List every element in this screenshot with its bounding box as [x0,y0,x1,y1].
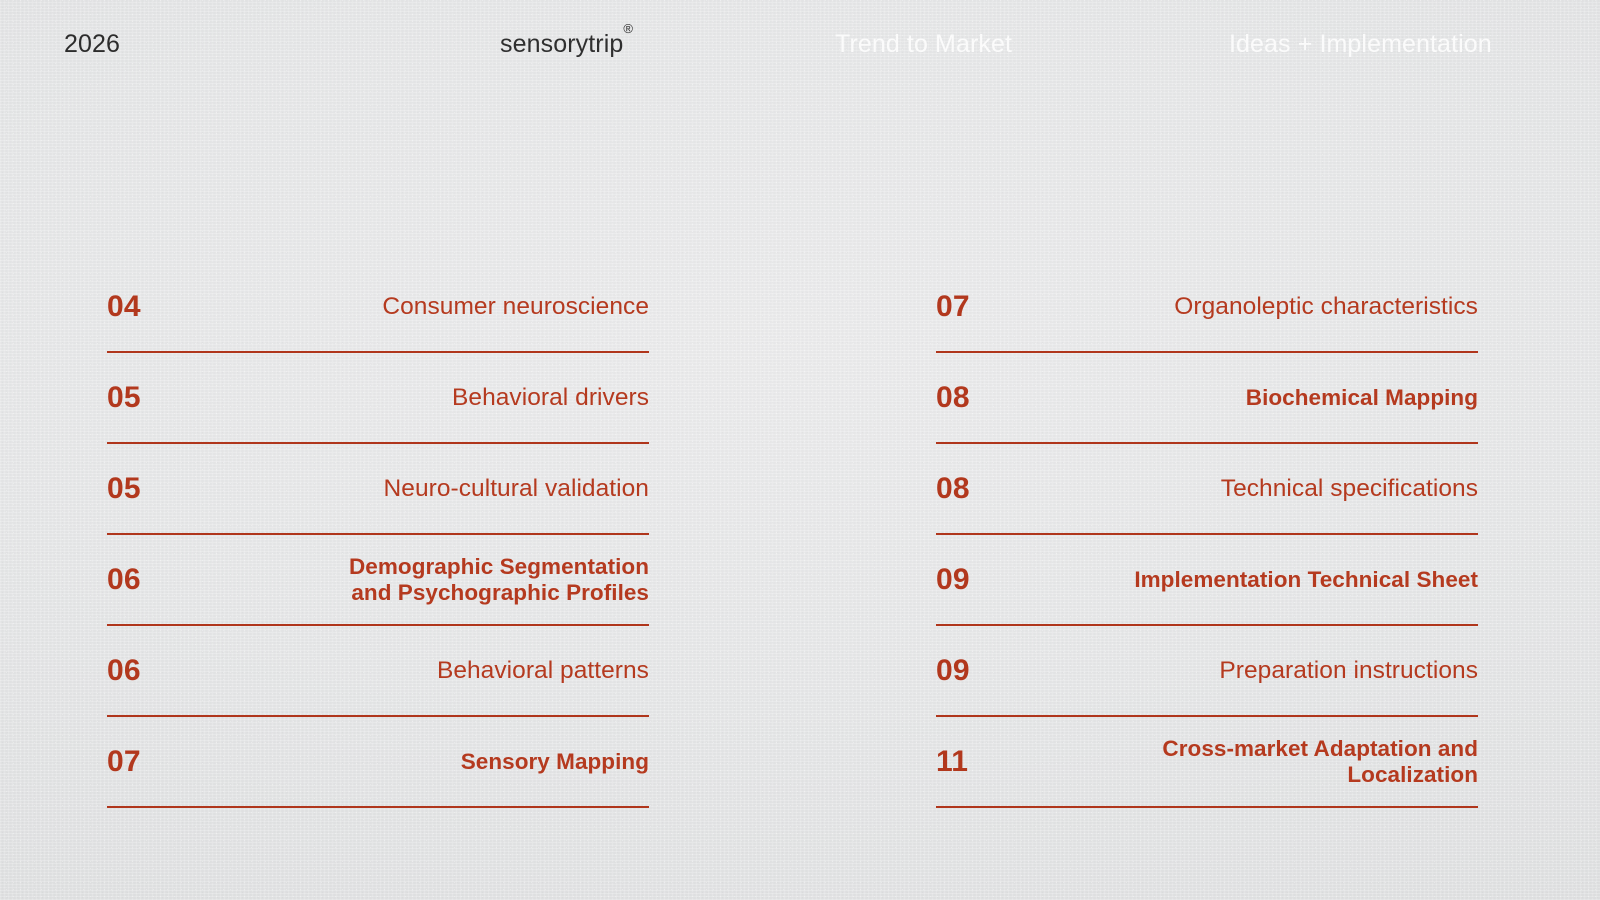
toc-row-number: 06 [107,565,217,595]
toc-row[interactable]: 11Cross-market Adaptation and Localizati… [936,717,1478,808]
toc-row-label[interactable]: Consumer neuroscience [217,293,649,320]
header-nav-item-ideas-implementation[interactable]: Ideas + Implementation [1229,30,1492,59]
toc-row[interactable]: 05Behavioral drivers [107,353,649,444]
toc-row-number: 07 [107,747,217,777]
toc-row-label[interactable]: Organoleptic characteristics [1046,293,1478,320]
toc-row-number: 05 [107,474,217,504]
toc-row-number: 09 [936,565,1046,595]
toc-row[interactable]: 09Preparation instructions [936,626,1478,717]
registered-trademark-icon: ® [623,21,633,36]
toc-row[interactable]: 05Neuro-cultural validation [107,444,649,535]
brand-name: sensorytrip [500,30,623,58]
toc-row-number: 05 [107,383,217,413]
toc-row-label[interactable]: Biochemical Mapping [1046,385,1478,410]
page-header: 2026 sensorytrip® Trend to Market Ideas … [0,0,1600,88]
toc-row-number: 06 [107,656,217,686]
header-nav-item-trend-to-market[interactable]: Trend to Market [835,30,1012,59]
header-year: 2026 [64,30,120,59]
toc-row-number: 09 [936,656,1046,686]
toc-row-label[interactable]: Cross-market Adaptation and Localization [1046,736,1478,786]
toc-column-right: 07Organoleptic characteristics08Biochemi… [936,262,1478,808]
toc-row[interactable]: 04Consumer neuroscience [107,262,649,353]
toc-row[interactable]: 08Biochemical Mapping [936,353,1478,444]
toc-column-left: 04Consumer neuroscience05Behavioral driv… [107,262,649,808]
toc-row-label[interactable]: Behavioral drivers [217,384,649,411]
toc-row-label[interactable]: Demographic Segmentation and Psychograph… [217,554,649,604]
toc-row-number: 04 [107,292,217,322]
toc-row[interactable]: 08Technical specifications [936,444,1478,535]
brand-logo: sensorytrip® [500,30,633,59]
toc-row[interactable]: 07Organoleptic characteristics [936,262,1478,353]
toc-row-number: 11 [936,747,1046,777]
toc-row[interactable]: 07Sensory Mapping [107,717,649,808]
toc-row-number: 08 [936,474,1046,504]
toc-row[interactable]: 06Behavioral patterns [107,626,649,717]
toc-row-label[interactable]: Technical specifications [1046,475,1478,502]
toc-row-label[interactable]: Sensory Mapping [217,749,649,774]
toc-row-label[interactable]: Preparation instructions [1046,657,1478,684]
toc-row[interactable]: 09Implementation Technical Sheet [936,535,1478,626]
toc-row-number: 07 [936,292,1046,322]
toc-row[interactable]: 06Demographic Segmentation and Psychogra… [107,535,649,626]
toc-row-label[interactable]: Behavioral patterns [217,657,649,684]
toc-row-number: 08 [936,383,1046,413]
toc-row-label[interactable]: Implementation Technical Sheet [1046,567,1478,592]
toc-row-label[interactable]: Neuro-cultural validation [217,475,649,502]
